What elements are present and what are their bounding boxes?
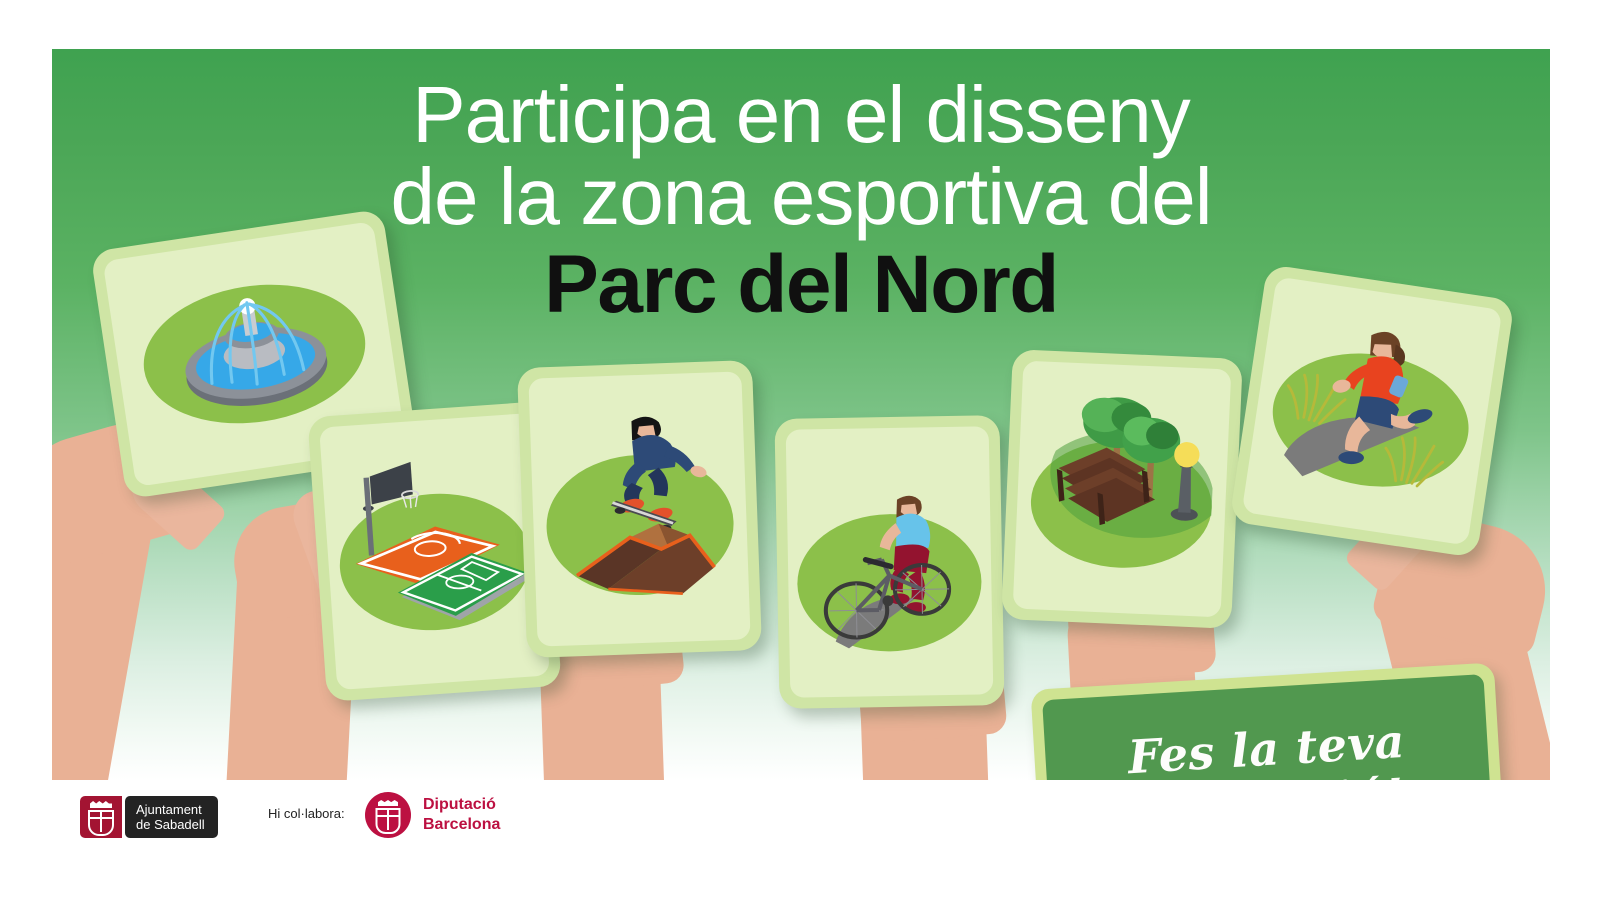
card-bench[interactable] (1001, 349, 1243, 629)
card-skate[interactable] (517, 360, 762, 658)
sabadell-name-plate: Ajuntament de Sabadell (125, 796, 218, 838)
poster-canvas: Participa en el disseny de la zona espor… (0, 0, 1600, 900)
diputacio-barcelona-logo[interactable]: Diputació Barcelona (365, 792, 500, 838)
runner-icon (1242, 276, 1503, 545)
sabadell-line-1: Ajuntament (136, 802, 205, 817)
collaborator-label: Hi col·labora: (268, 806, 345, 821)
sabadell-line-2: de Sabadell (136, 817, 205, 832)
sports-court-icon (319, 413, 550, 690)
headline-line-1: Participa en el disseny (52, 74, 1550, 156)
park-bench-icon (1013, 361, 1232, 618)
card-bike[interactable] (774, 415, 1004, 709)
diputacio-line-1: Diputació (423, 795, 500, 815)
skate-ramp-icon (575, 522, 715, 597)
bicycle-icon (786, 426, 994, 698)
card-bench-inner (1013, 361, 1232, 618)
sabadell-crest-icon (80, 796, 122, 838)
diputacio-name: Diputació Barcelona (423, 795, 500, 834)
card-running[interactable] (1229, 264, 1515, 558)
card-skate-inner (528, 371, 750, 646)
diputacio-crest-icon (365, 792, 411, 838)
card-bike-inner (786, 426, 994, 698)
ajuntament-de-sabadell-logo[interactable]: Ajuntament de Sabadell (80, 796, 218, 838)
card-running-inner (1242, 276, 1503, 545)
skateboard-icon (528, 371, 750, 646)
footer-logos: Ajuntament de Sabadell Hi col·labora: Di… (0, 780, 1600, 900)
diputacio-line-2: Barcelona (423, 815, 500, 835)
card-sports-courts-inner (319, 413, 550, 690)
poster-stage: Participa en el disseny de la zona espor… (52, 49, 1550, 780)
